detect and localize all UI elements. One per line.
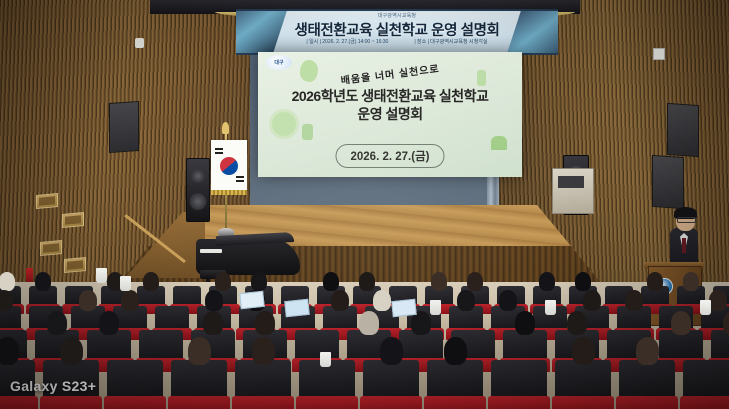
wall-plaque [64, 257, 86, 273]
audience-head [539, 272, 555, 291]
audience-head [572, 337, 595, 365]
dgedu-logo: 대구 [266, 55, 292, 70]
decor-blob [491, 136, 507, 150]
auditorium-seat [296, 396, 358, 409]
auditorium-seat [40, 396, 102, 409]
korean-flag [211, 140, 247, 192]
audience-head [205, 290, 223, 311]
audience-head [567, 311, 587, 335]
acoustic-panel-right-lower [652, 155, 684, 209]
screen-title-line1: 2026학년도 생태전환교육 실천학교 [258, 86, 522, 106]
audience-head [215, 272, 231, 291]
auditorium-seat [616, 396, 678, 409]
acoustic-panel-left [109, 101, 139, 153]
auditorium-seat [0, 396, 38, 409]
drink-cup [430, 300, 441, 315]
seat-back [555, 360, 611, 400]
auditorium-seat [488, 396, 550, 409]
wall-sensor-left [135, 38, 144, 48]
audience-head [35, 272, 51, 291]
auditorium-seat [552, 396, 614, 409]
audience-head [457, 290, 475, 311]
auditorium-seat [424, 396, 486, 409]
flagpole-finial [222, 122, 229, 134]
presenter-tie [682, 238, 686, 253]
seat-back [171, 360, 227, 400]
screen-date-badge: 2026. 2. 27.(금) [336, 144, 445, 168]
seat-back [427, 360, 483, 400]
drink-cup [120, 276, 131, 291]
av-rack-panel [558, 176, 584, 188]
banner-org-line: 대구광역시교육청 [236, 12, 558, 19]
audience-head [683, 272, 699, 291]
audience-head [636, 337, 659, 365]
banner-subline: | 일시 | 2026. 2. 27.(금) 14:00 ~ 16:30 | 장… [236, 38, 558, 45]
auditorium-seat [232, 396, 294, 409]
wall-sensor-right [653, 48, 665, 60]
audience-head [431, 272, 447, 291]
banner-title: 생태전환교육 실천학교 운영 설명회 [236, 19, 558, 40]
audience-head [99, 311, 119, 335]
audience-head [60, 337, 83, 365]
audience-head [583, 290, 601, 311]
audience-head [625, 290, 643, 311]
audience-head [323, 272, 339, 291]
seat-back [491, 360, 547, 400]
taeguk-symbol [220, 157, 238, 175]
audience-head [188, 337, 211, 365]
acoustic-panel-right-upper [667, 103, 699, 157]
audience-head [575, 272, 591, 291]
presenter-glasses [677, 217, 696, 223]
seat-back [683, 360, 729, 400]
banner-location: | 장소 | 대구광역시교육청 시청각실 [414, 38, 487, 45]
audience-head [709, 290, 727, 311]
audience-head [647, 272, 663, 291]
auditorium-seat [168, 396, 230, 409]
audience-head [515, 311, 535, 335]
auditorium-seat [360, 396, 422, 409]
auditorium-seat [680, 396, 729, 409]
drink-cup [96, 268, 107, 283]
seat-back [107, 360, 163, 400]
audience-head [121, 290, 139, 311]
av-equipment-rack [552, 168, 594, 214]
banner-datetime: | 일시 | 2026. 2. 27.(금) 14:00 ~ 16:30 [306, 38, 388, 45]
audience-head-with-hat [0, 272, 15, 291]
wall-plaque [40, 240, 62, 256]
audience-head-with-hat [373, 290, 391, 311]
audience-head [0, 290, 13, 311]
drink-cup [320, 352, 331, 367]
handout-booklet [284, 299, 310, 317]
audience-head [467, 272, 483, 291]
audience-head-with-hat [359, 311, 379, 335]
auditorium-photo: 대구광역시교육청 생태전환교육 실천학교 운영 설명회 | 일시 | 2026.… [0, 0, 729, 409]
audience-head [251, 272, 267, 291]
projection-screen: 대구 배움을 너머 실천으로 2026학년도 생태전환교육 실천학교 운영 설명… [258, 52, 522, 177]
decor-blob [477, 70, 486, 86]
audience-head [0, 337, 19, 365]
audience-head [380, 337, 403, 365]
event-banner: 대구광역시교육청 생태전환교육 실천학교 운영 설명회 | 일시 | 2026.… [236, 9, 558, 55]
audience-head [79, 290, 97, 311]
screen-title-line2: 운영 설명회 [258, 104, 522, 124]
drink-cup [700, 300, 711, 315]
handout-booklet [239, 291, 265, 309]
seat-back [619, 360, 675, 400]
speaker-left [186, 158, 210, 222]
auditorium-seat [104, 396, 166, 409]
audience-head [47, 311, 67, 335]
decor-blob [302, 124, 313, 140]
audience-head [143, 272, 159, 291]
audience-head [203, 311, 223, 335]
wall-plaque [36, 193, 58, 209]
audience-head [255, 311, 275, 335]
piano-keys [200, 249, 222, 253]
flag-fringe [211, 190, 247, 195]
audience-head [671, 311, 691, 335]
audience-head [499, 290, 517, 311]
drink-cup [545, 300, 556, 315]
seat-back [363, 360, 419, 400]
audience-head [359, 272, 375, 291]
seat-back [235, 360, 291, 400]
handout-booklet [391, 299, 417, 317]
audience-head [252, 337, 275, 365]
audience-head [444, 337, 467, 365]
wall-plaque [62, 212, 84, 228]
audience-head [331, 290, 349, 311]
camera-watermark: Galaxy S23+ [10, 378, 96, 394]
